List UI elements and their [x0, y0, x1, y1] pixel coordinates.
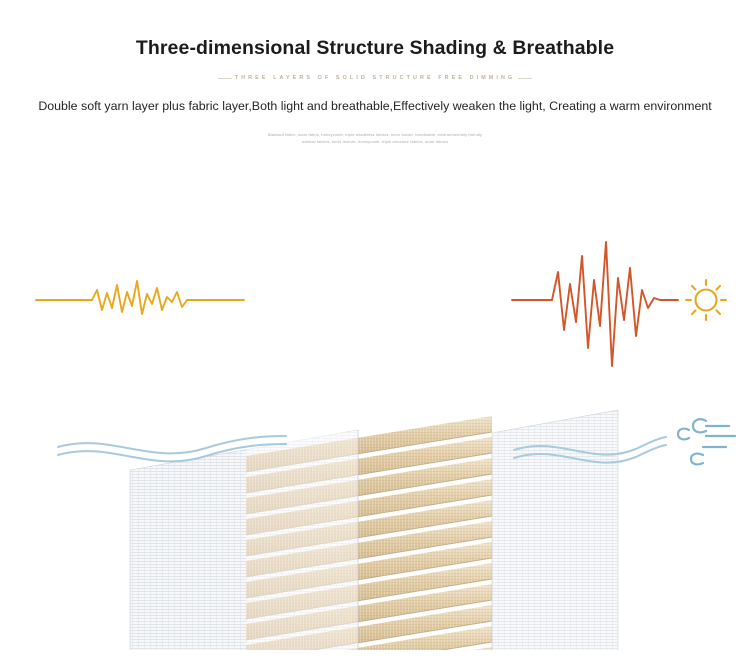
tagline-rule-right [518, 78, 532, 79]
keyword-line-1: Blackout fabric, solar fabric, honeycomb… [225, 131, 525, 138]
keyword-line-2: window fabrics, inner texture, honeycomb… [225, 138, 525, 145]
page-title: Three-dimensional Structure Shading & Br… [0, 36, 750, 60]
subtitle-text: Double soft yarn layer plus fabric layer… [0, 98, 750, 114]
sun-icon [686, 280, 726, 320]
header-block: Three-dimensional Structure Shading & Br… [0, 0, 750, 145]
incoming-light-wave [36, 281, 244, 314]
tagline-rule-left [218, 78, 232, 79]
shading-structure-illustration [0, 180, 750, 650]
keyword-block: Blackout fabric, solar fabric, honeycomb… [225, 131, 525, 145]
wind-icon [678, 419, 735, 464]
outgoing-light-wave [512, 242, 678, 366]
tagline-row: THREE LAYERS OF SOLID STRUCTURE FREE DIM… [0, 72, 750, 84]
tagline-text: THREE LAYERS OF SOLID STRUCTURE FREE DIM… [235, 75, 516, 81]
panel-overlay-left [246, 430, 358, 650]
inner-mesh-panel [492, 410, 618, 650]
